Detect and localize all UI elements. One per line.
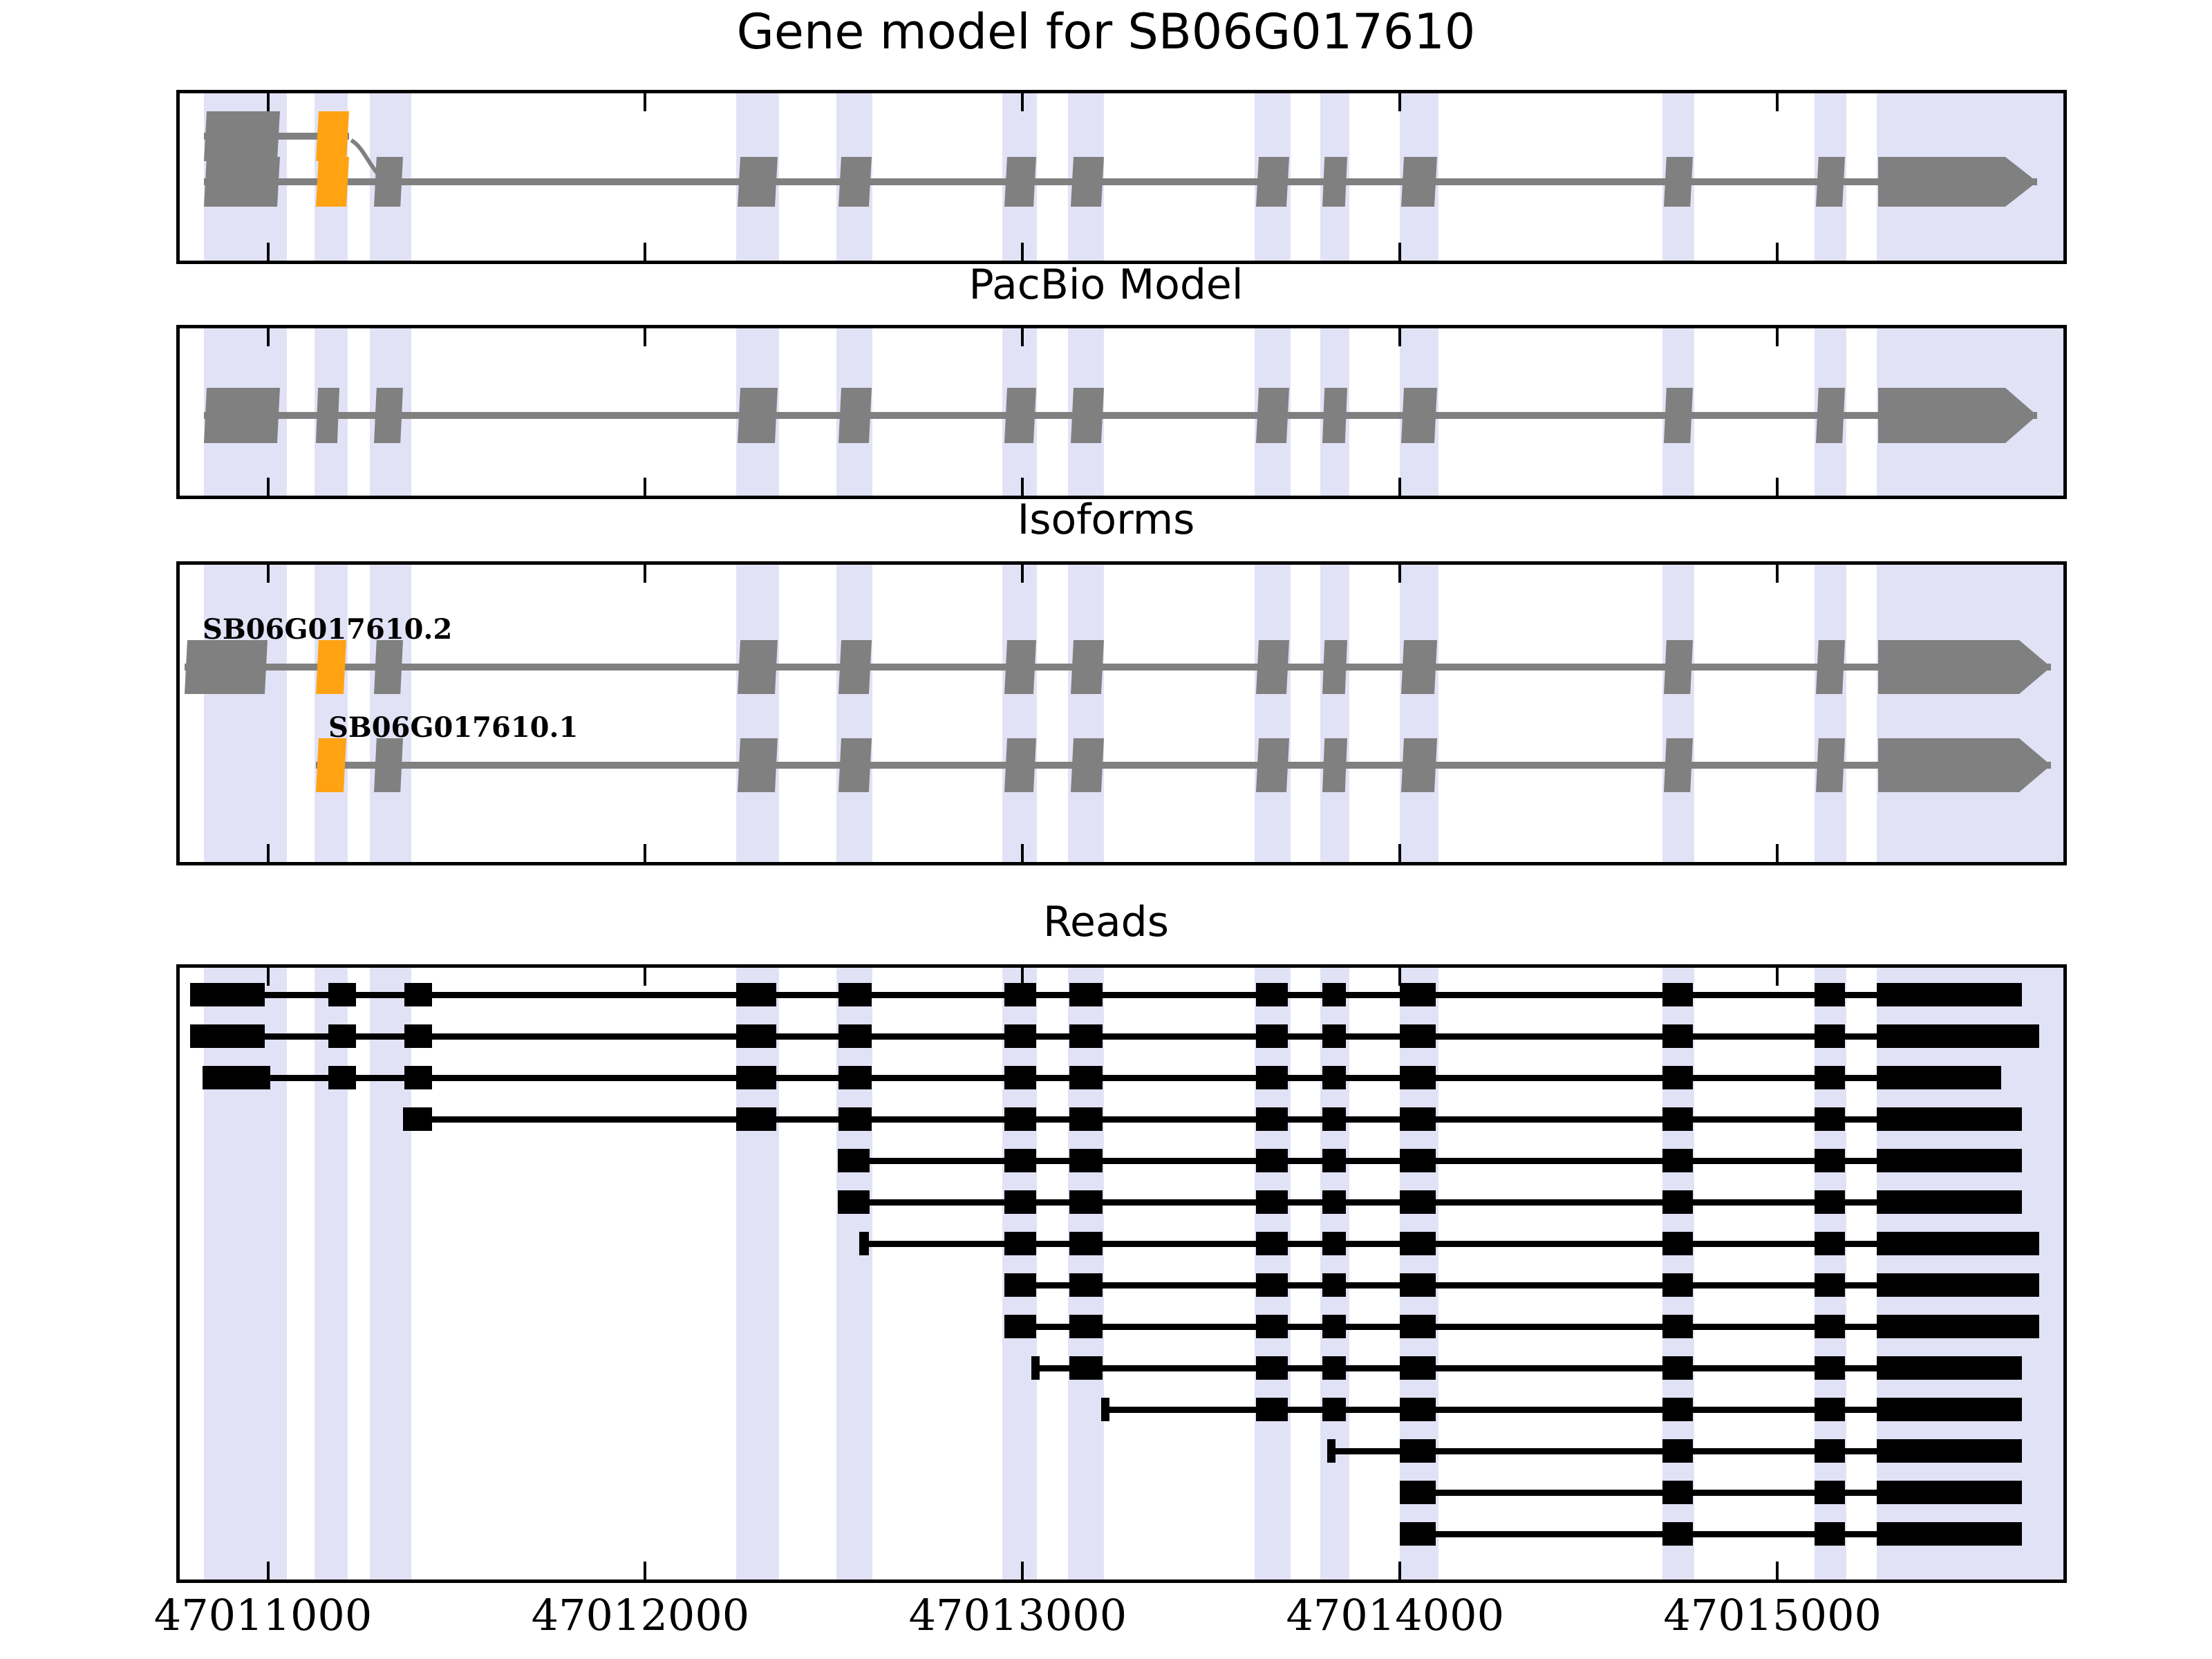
read-exon-block [1877, 1522, 2022, 1546]
read-exon-block [1815, 1398, 1845, 1421]
read-exon-block [1662, 1024, 1693, 1048]
exon-block [1256, 388, 1289, 443]
read-exon-block [1877, 1066, 2001, 1089]
read-exon-block [1069, 1232, 1103, 1255]
exon-block [738, 157, 778, 207]
read-exon-block [1400, 1522, 1436, 1546]
read-exon-block [404, 1066, 432, 1089]
read-exon-block [838, 1190, 870, 1214]
read-exon-block [1004, 1315, 1036, 1338]
axis-tick-mark [1776, 565, 1779, 583]
exon-block [374, 388, 403, 443]
terminal-exon [1878, 157, 2037, 207]
exon-block [1322, 388, 1347, 443]
read-exon-block [1069, 1066, 1103, 1089]
read-exon-block [1400, 983, 1436, 1006]
highlight-band [1877, 565, 2065, 862]
highlight-band [1400, 565, 1438, 862]
exon-block [1322, 640, 1347, 694]
axis-tick-label: 47011000 [125, 1590, 402, 1640]
read-exon-block [1662, 1107, 1693, 1131]
axis-tick-label: 47013000 [879, 1590, 1156, 1640]
read-exon-block [838, 1024, 872, 1048]
read-exon-block [1256, 1356, 1288, 1380]
highlight-band [370, 968, 411, 1580]
read-intron-line [859, 1241, 2039, 1247]
read-exon-block [736, 983, 776, 1006]
read-exon-block [1069, 1356, 1103, 1380]
read-exon-block [1069, 1024, 1103, 1048]
exon-block [316, 640, 346, 694]
read-exon-block [1069, 1273, 1103, 1297]
genome-browser-figure: Gene model for SB06G017610PacBio ModelIs… [0, 0, 2212, 1659]
exon-block [1071, 157, 1104, 207]
highlight-band [736, 968, 779, 1580]
isoform-label: SB06G017610.2 [203, 613, 452, 646]
read-exon-block [1877, 1439, 2022, 1463]
exon-block [316, 157, 349, 207]
read-exon-block [1322, 1149, 1346, 1172]
intron-line [204, 412, 2037, 419]
axis-tick-label: 47012000 [502, 1590, 778, 1640]
read-exon-block [328, 983, 356, 1006]
exon-block [1401, 388, 1437, 443]
exon-block [1004, 738, 1036, 792]
read-exon-block [1004, 983, 1036, 1006]
highlight-band [1815, 565, 1846, 862]
highlight-band [736, 565, 779, 862]
read-exon-block [838, 1107, 872, 1131]
highlight-band [204, 968, 287, 1580]
exon-block [316, 388, 339, 443]
read-exon-block [1069, 983, 1103, 1006]
read-exon-block [1877, 1107, 2022, 1131]
read-exon-block [1662, 1066, 1693, 1089]
axis-tick-mark [267, 478, 270, 496]
read-exon-block [1327, 1439, 1335, 1463]
exon-block [1664, 738, 1693, 792]
exon-block [1256, 738, 1289, 792]
axis-tick-mark [644, 478, 646, 496]
intron-line [185, 664, 2051, 671]
read-exon-block [1256, 1232, 1288, 1255]
read-intron-line [190, 992, 2022, 998]
read-exon-block [1400, 1024, 1436, 1048]
highlight-band [1320, 565, 1349, 862]
read-exon-block [1256, 983, 1288, 1006]
read-exon-block [1256, 1398, 1288, 1421]
read-exon-block [1256, 1315, 1288, 1338]
read-exon-block [1400, 1398, 1436, 1421]
read-exon-block [1815, 1107, 1845, 1131]
read-exon-block [1662, 1149, 1693, 1172]
read-exon-block [1322, 1356, 1346, 1380]
read-exon-block [1815, 1232, 1845, 1255]
exon-block [1322, 738, 1347, 792]
highlight-band [836, 968, 872, 1580]
read-exon-block [1877, 1481, 2022, 1504]
axis-tick-mark [1398, 328, 1401, 346]
read-exon-block [1662, 1315, 1693, 1338]
intron-line [204, 178, 2037, 185]
read-exon-block [1101, 1398, 1109, 1421]
exon-block [1322, 157, 1347, 207]
read-exon-block [1877, 1024, 2039, 1048]
read-exon-block [1400, 1149, 1436, 1172]
read-exon-block [1256, 1273, 1288, 1297]
read-exon-block [1004, 1190, 1036, 1214]
axis-tick-mark [267, 1562, 270, 1580]
read-exon-block [190, 983, 265, 1006]
read-exon-block [1662, 1522, 1693, 1546]
read-intron-line [1031, 1365, 2022, 1371]
isoform-label: SB06G017610.1 [328, 711, 578, 744]
read-exon-block [1400, 1107, 1436, 1131]
read-exon-block [1877, 1356, 2022, 1380]
read-exon-block [1400, 1190, 1436, 1214]
exon-block [1816, 157, 1845, 207]
exon-block [204, 157, 280, 207]
read-exon-block [1322, 1232, 1346, 1255]
read-exon-block [1662, 1398, 1693, 1421]
axis-tick-mark [1021, 328, 1024, 346]
read-exon-block [1069, 1315, 1103, 1338]
panel-title-pacbio: PacBio Model [0, 261, 2212, 309]
read-exon-block [403, 1107, 432, 1131]
read-exon-block [1322, 1190, 1346, 1214]
exon-block [1816, 640, 1845, 694]
read-exon-block [1004, 1232, 1036, 1255]
exon-block [316, 738, 346, 792]
read-exon-block [1322, 1066, 1346, 1089]
axis-tick-mark [1398, 844, 1401, 862]
exon-block [374, 157, 403, 207]
read-exon-block [1815, 983, 1845, 1006]
read-exon-block [736, 1107, 776, 1131]
read-exon-block [1815, 1439, 1845, 1463]
read-exon-block [1815, 1315, 1845, 1338]
terminal-exon [1878, 640, 2051, 694]
read-exon-block [1004, 1066, 1036, 1089]
exon-block [838, 157, 872, 207]
read-intron-line [403, 1116, 2022, 1123]
exon-block [1816, 738, 1845, 792]
panel-pacbio-model [176, 325, 2067, 499]
axis-tick-mark [1776, 968, 1779, 986]
exon-block [1816, 388, 1845, 443]
exon-block [1004, 640, 1036, 694]
read-exon-block [838, 1149, 870, 1172]
exon-block [1664, 388, 1693, 443]
highlight-band [1662, 565, 1694, 862]
read-exon-block [1877, 1190, 2022, 1214]
exon-block [738, 640, 778, 694]
page-title: Gene model for SB06G017610 [0, 4, 2212, 60]
exon-block [838, 738, 872, 792]
read-exon-block [1004, 1273, 1036, 1297]
read-exon-block [1877, 1398, 2022, 1421]
read-exon-block [1815, 1481, 1845, 1504]
read-exon-block [1877, 1232, 2039, 1255]
read-exon-block [1662, 983, 1693, 1006]
exon-block [1664, 157, 1693, 207]
read-exon-block [1815, 1149, 1845, 1172]
highlight-band [204, 565, 287, 862]
read-exon-block [1400, 1232, 1436, 1255]
axis-tick-mark [644, 968, 646, 986]
exon-block [1401, 738, 1437, 792]
axis-tick-mark [267, 968, 270, 986]
exon-block [738, 388, 778, 443]
read-exon-block [1322, 1273, 1346, 1297]
read-exon-block [1662, 1356, 1693, 1380]
exon-block [1664, 640, 1693, 694]
highlight-band [836, 565, 872, 862]
read-exon-block [838, 1066, 872, 1089]
read-exon-block [1004, 1107, 1036, 1131]
axis-tick-mark [644, 328, 646, 346]
read-exon-block [1400, 1066, 1436, 1089]
panel-title-isoforms: Isoforms [0, 496, 2212, 544]
read-exon-block [1662, 1190, 1693, 1214]
panel-reads [176, 964, 2067, 1583]
read-exon-block [404, 983, 432, 1006]
read-exon-block [1322, 1024, 1346, 1048]
axis-tick-mark [267, 844, 270, 862]
exon-block [1401, 640, 1437, 694]
panel-title-reads: Reads [0, 899, 2212, 946]
read-exon-block [1815, 1190, 1845, 1214]
axis-tick-mark [644, 844, 646, 862]
exon-block [1004, 157, 1036, 207]
terminal-exon [1878, 388, 2037, 443]
terminal-exon [1878, 738, 2051, 792]
axis-tick-mark [1776, 478, 1779, 496]
read-exon-block [859, 1232, 869, 1255]
read-exon-block [404, 1024, 432, 1048]
read-exon-block [203, 1066, 270, 1089]
read-exon-block [1400, 1315, 1436, 1338]
exon-block [1004, 388, 1036, 443]
read-exon-block [1400, 1356, 1436, 1380]
read-exon-block [1815, 1066, 1845, 1089]
read-exon-block [1031, 1356, 1040, 1380]
exon-block [838, 640, 872, 694]
read-exon-block [838, 983, 872, 1006]
axis-tick-mark [644, 565, 646, 583]
axis-tick-mark [1021, 844, 1024, 862]
read-exon-block [1256, 1024, 1288, 1048]
exon-block [374, 640, 403, 694]
read-exon-block [1322, 1315, 1346, 1338]
read-exon-block [1877, 983, 2022, 1006]
read-exon-block [1069, 1190, 1103, 1214]
read-exon-block [1662, 1273, 1693, 1297]
read-exon-block [736, 1024, 776, 1048]
read-exon-block [1069, 1149, 1103, 1172]
exon-block [1071, 388, 1104, 443]
panel-gene-model [176, 90, 2067, 264]
read-exon-block [1400, 1273, 1436, 1297]
exon-block [374, 738, 403, 792]
read-exon-block [1815, 1024, 1845, 1048]
exon-block [1256, 640, 1289, 694]
read-exon-block [1815, 1522, 1845, 1546]
read-exon-block [328, 1024, 356, 1048]
highlight-band [1255, 565, 1291, 862]
axis-tick-mark [1398, 1562, 1401, 1580]
exon-block [204, 388, 280, 443]
panel-isoforms: SB06G017610.2SB06G017610.1 [176, 561, 2067, 865]
read-exon-block [1004, 1149, 1036, 1172]
axis-tick-mark [644, 1562, 646, 1580]
axis-tick-mark [1776, 1562, 1779, 1580]
read-intron-line [190, 1033, 2039, 1040]
read-exon-block [1400, 1481, 1436, 1504]
exon-block [838, 388, 872, 443]
axis-tick-label: 47015000 [1634, 1590, 1911, 1640]
axis-tick-mark [267, 328, 270, 346]
read-exon-block [1256, 1149, 1288, 1172]
read-exon-block [736, 1066, 776, 1089]
axis-tick-mark [1021, 565, 1024, 583]
read-exon-block [328, 1066, 356, 1089]
exon-block [1256, 157, 1289, 207]
highlight-band [1002, 565, 1037, 862]
read-exon-block [1877, 1315, 2039, 1338]
read-exon-block [1256, 1107, 1288, 1131]
axis-tick-mark [1021, 478, 1024, 496]
axis-tick-mark [1398, 478, 1401, 496]
read-exon-block [1877, 1273, 2039, 1297]
read-exon-block [1662, 1481, 1693, 1504]
exon-block [1071, 738, 1104, 792]
read-exon-block [1662, 1439, 1693, 1463]
read-exon-block [1662, 1232, 1693, 1255]
read-exon-block [1400, 1439, 1436, 1463]
read-exon-block [1004, 1024, 1036, 1048]
read-exon-block [1069, 1107, 1103, 1131]
read-exon-block [1815, 1356, 1845, 1380]
read-exon-block [1322, 983, 1346, 1006]
axis-tick-mark [1776, 328, 1779, 346]
axis-tick-mark [1776, 844, 1779, 862]
read-exon-block [1815, 1273, 1845, 1297]
read-exon-block [1322, 1398, 1346, 1421]
read-exon-block [190, 1024, 265, 1048]
read-exon-block [1256, 1190, 1288, 1214]
axis-tick-label: 47014000 [1257, 1590, 1533, 1640]
axis-tick-mark [267, 565, 270, 583]
read-exon-block [1322, 1107, 1346, 1131]
axis-tick-mark [1021, 1562, 1024, 1580]
axis-tick-mark [1398, 565, 1401, 583]
exon-block [1401, 157, 1437, 207]
highlight-band [315, 968, 348, 1580]
exon-block [1071, 640, 1104, 694]
intron-line [316, 762, 2051, 769]
exon-block [738, 738, 778, 792]
exon-block [185, 640, 268, 694]
highlight-band [1068, 565, 1104, 862]
read-exon-block [1256, 1066, 1288, 1089]
read-exon-block [1877, 1149, 2022, 1172]
